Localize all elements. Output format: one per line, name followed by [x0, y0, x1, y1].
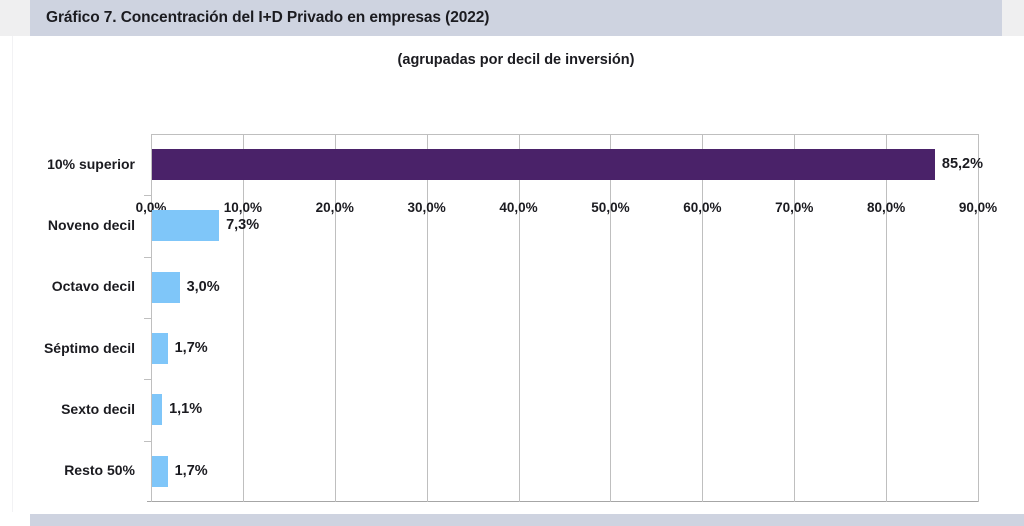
category-label: Resto 50% — [13, 462, 135, 478]
chart-bar-row: 1,7% — [151, 318, 978, 379]
chart-title-bar: Gráfico 7. Concentración del I+D Privado… — [30, 0, 1002, 36]
page-title: Gráfico 7. Concentración del I+D Privado… — [46, 9, 489, 27]
chart-bar[interactable] — [152, 456, 168, 487]
bar-value-label: 7,3% — [219, 210, 259, 241]
bar-value-label: 1,7% — [168, 456, 208, 487]
gridline — [978, 134, 979, 502]
plot-area: 0,0%10,0%20,0%30,0%40,0%50,0%60,0%70,0%8… — [151, 134, 978, 502]
bar-value-label: 1,7% — [168, 333, 208, 364]
bar-value-label: 3,0% — [180, 272, 220, 303]
chart-bar[interactable] — [152, 149, 935, 180]
category-label: 10% superior — [13, 156, 135, 172]
chart-bar-row: 1,1% — [151, 379, 978, 440]
footer-left-filler — [0, 514, 30, 526]
chart-page: Gráfico 7. Concentración del I+D Privado… — [0, 0, 1024, 526]
category-label: Séptimo decil — [13, 340, 135, 356]
category-axis-tick — [144, 379, 151, 380]
category-label: Sexto decil — [13, 401, 135, 417]
chart-bar[interactable] — [152, 333, 168, 364]
footer-band — [30, 514, 1024, 526]
chart-bar-row: 7,3% — [151, 195, 978, 256]
bar-value-label: 1,1% — [162, 394, 202, 425]
category-axis-tick — [144, 318, 151, 319]
chart-bar-row: 1,7% — [151, 441, 978, 502]
chart-panel: (agrupadas por decil de inversión) 10% s… — [12, 36, 1019, 512]
chart-bar-row: 85,2% — [151, 134, 978, 195]
category-axis-tick — [144, 257, 151, 258]
top-right-filler — [1002, 0, 1024, 36]
chart-subtitle: (agrupadas por decil de inversión) — [13, 52, 1019, 68]
category-label: Octavo decil — [13, 278, 135, 294]
category-axis-labels: 10% superiorNoveno decilOctavo decilSépt… — [13, 134, 143, 502]
chart-bar[interactable] — [152, 394, 162, 425]
chart-bar-row: 3,0% — [151, 257, 978, 318]
chart-bar[interactable] — [152, 210, 219, 241]
bar-value-label: 85,2% — [935, 149, 983, 180]
chart-bar[interactable] — [152, 272, 180, 303]
top-left-filler — [0, 0, 30, 36]
category-label: Noveno decil — [13, 217, 135, 233]
category-axis-tick — [144, 441, 151, 442]
category-axis-tick — [144, 195, 151, 196]
